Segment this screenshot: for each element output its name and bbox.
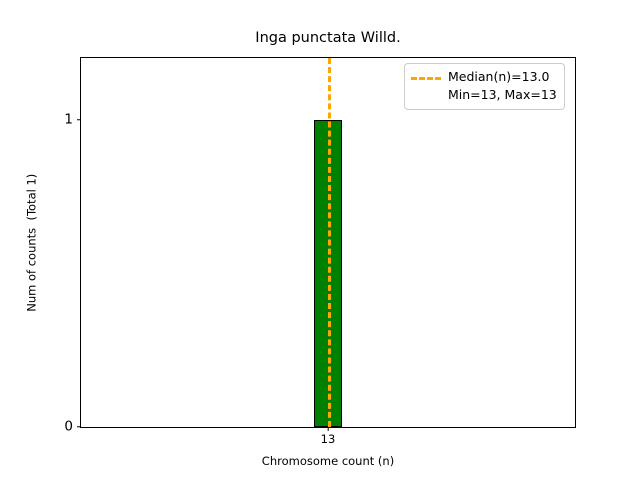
y-tick-mark-0 xyxy=(77,427,81,428)
x-tick-label-13: 13 xyxy=(321,431,336,446)
legend-dash-swatch-icon xyxy=(411,70,441,87)
y-axis-label-wrapper: Num of counts (Total 1) xyxy=(22,57,42,428)
plot-inner xyxy=(81,58,575,427)
y-tick-label-0: 0 xyxy=(64,420,77,434)
median-vline xyxy=(328,58,331,427)
y-tick-0: 0 xyxy=(64,420,81,434)
chart-figure: Inga punctata Willd. 0 1 13 xyxy=(0,0,640,480)
y-axis-label: Num of counts (Total 1) xyxy=(26,173,38,311)
plot-area: 0 1 13 Median(n)=13.0 Min=13, Max=13 xyxy=(80,57,576,428)
y-tick-1: 1 xyxy=(64,113,81,127)
legend-labels: Median(n)=13.0 Min=13, Max=13 xyxy=(448,69,557,104)
x-tick-13: 13 xyxy=(321,427,336,446)
legend-label-median: Median(n)=13.0 xyxy=(448,69,557,85)
y-tick-mark-1 xyxy=(77,119,81,120)
legend-label-minmax: Min=13, Max=13 xyxy=(448,87,557,103)
chart-title: Inga punctata Willd. xyxy=(80,30,576,46)
y-tick-label-1: 1 xyxy=(64,113,77,127)
x-axis-label: Chromosome count (n) xyxy=(80,454,576,468)
chart-legend: Median(n)=13.0 Min=13, Max=13 xyxy=(404,63,565,110)
